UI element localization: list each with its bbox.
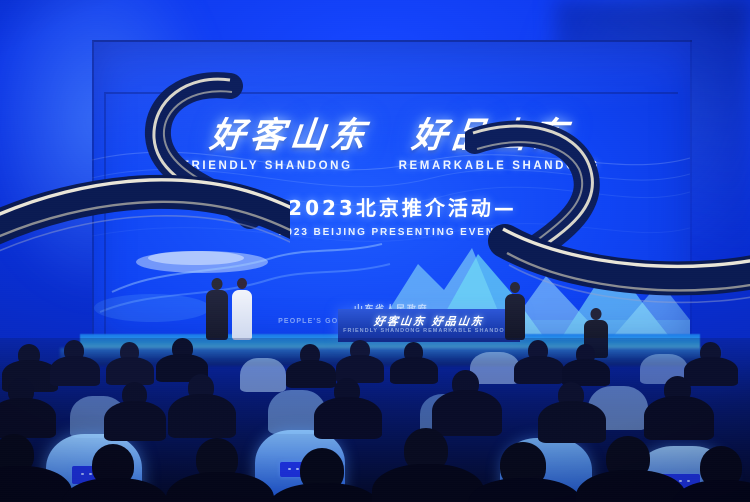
audience-shoulders (514, 356, 564, 384)
audience-shoulders (684, 357, 738, 386)
host-female (232, 278, 252, 340)
audience-shoulders (168, 394, 236, 438)
host-female-head (237, 278, 247, 289)
audience-shoulders (104, 401, 166, 441)
stage-speaker-head (510, 282, 520, 293)
host-male-head (212, 278, 223, 290)
standing-person-head (591, 308, 602, 320)
host-male (206, 278, 228, 340)
audience-shoulders (314, 397, 382, 439)
audience-shoulders (372, 464, 484, 502)
event-stage-photo: 好客山东 好品山东 FRIENDLY SHANDONG REMARKABLE S… (0, 0, 750, 502)
audience-shoulders (538, 401, 606, 443)
audience-shoulders (644, 396, 714, 440)
host-male-body (206, 290, 228, 340)
audience-shoulders (432, 390, 502, 436)
audience-shoulders (286, 360, 336, 388)
podium-banner-cn: 好客山东 好品山东 (338, 313, 520, 329)
chair (240, 358, 286, 392)
audience-shoulders (390, 357, 438, 384)
podium-banner-en: FRIENDLY SHANDONG REMARKABLE SHANDONG (338, 328, 520, 334)
audience-area (0, 338, 750, 502)
audience-shoulders (106, 357, 154, 385)
host-female-body (232, 290, 252, 340)
audience-shoulders (50, 356, 100, 386)
stage-speaker-right (505, 282, 525, 340)
stage-speaker-body (505, 294, 525, 340)
audience-shoulders (0, 398, 56, 438)
